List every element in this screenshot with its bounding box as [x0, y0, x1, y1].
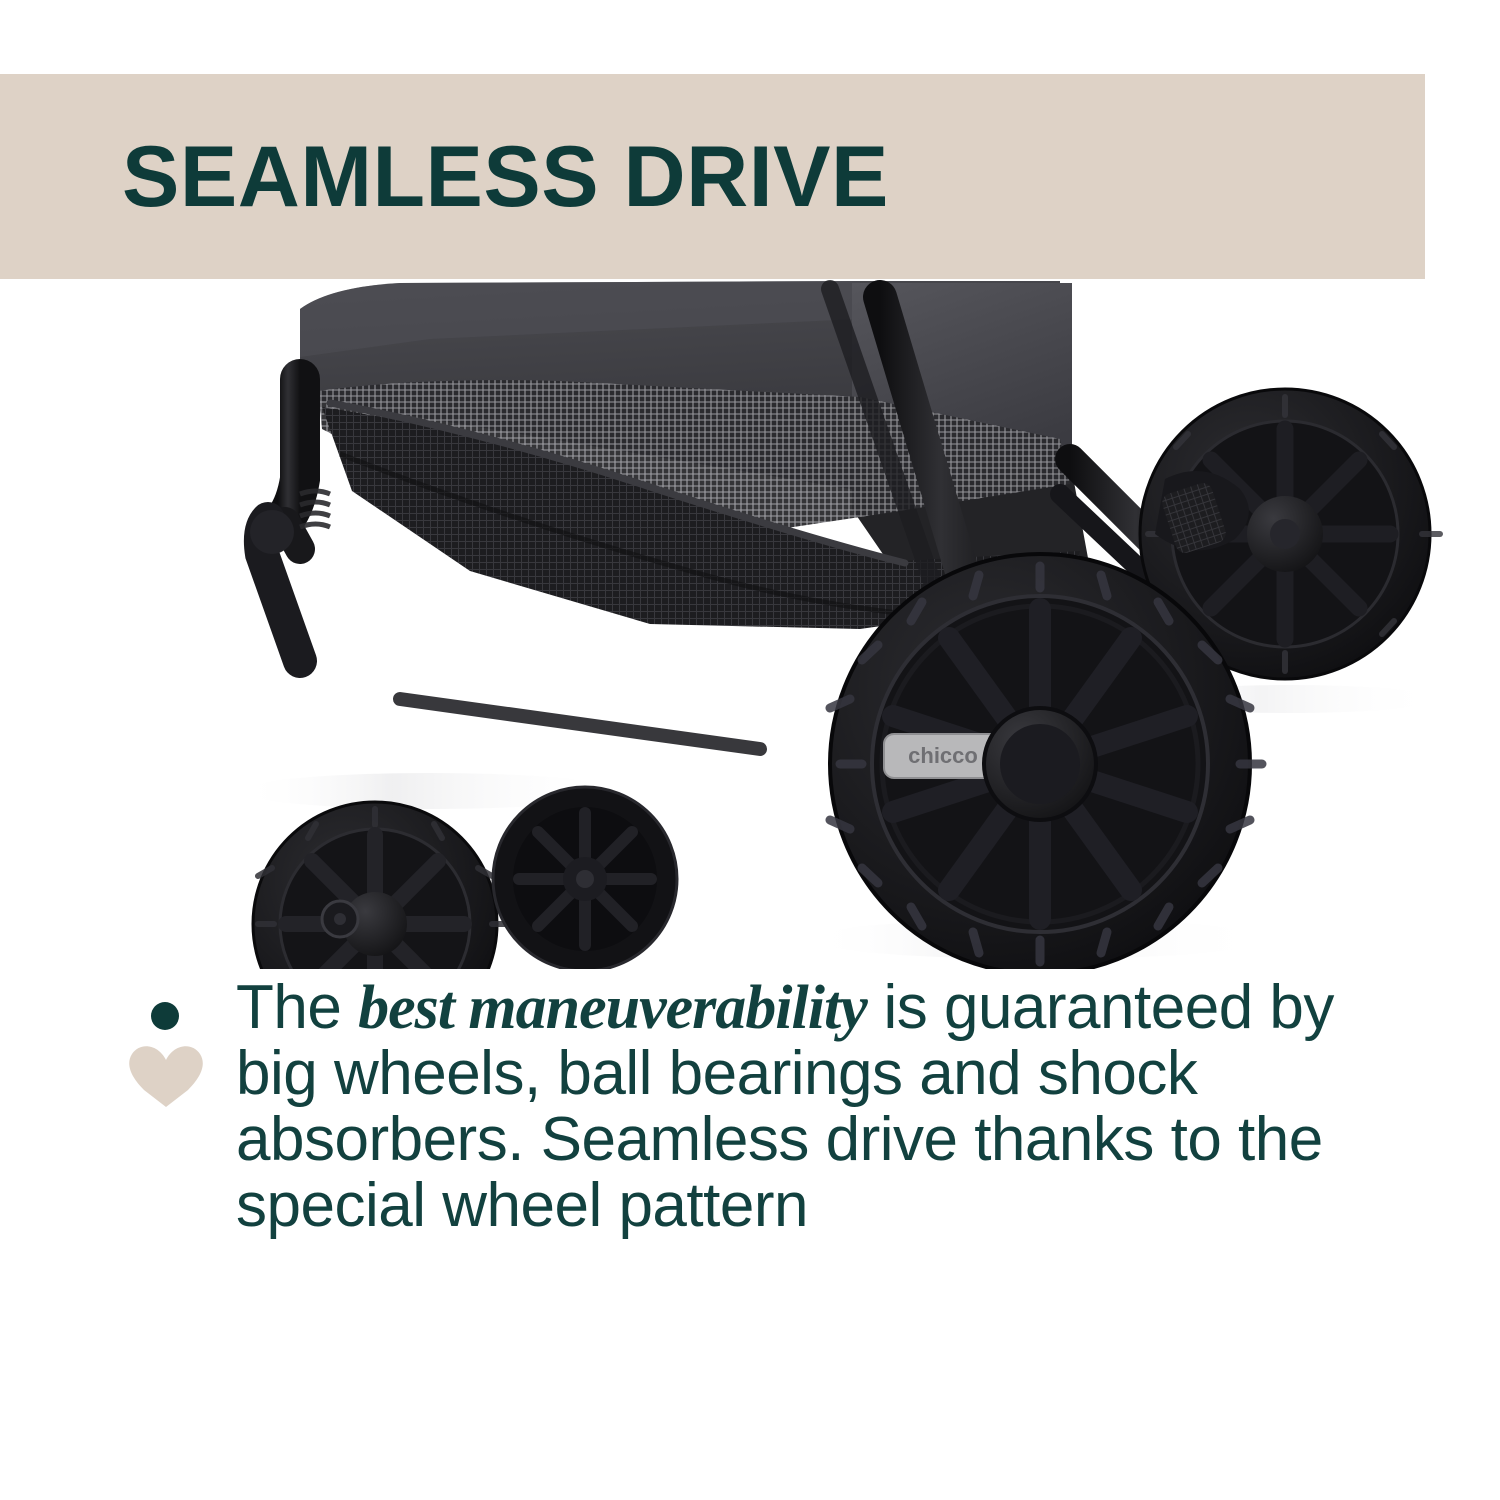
header-banner: SEAMLESS DRIVE: [0, 74, 1425, 279]
mid-rear-wheel: [493, 787, 677, 969]
chicco-heart-logo-icon: [128, 1000, 206, 1120]
logo-heart-icon: [128, 1040, 204, 1108]
description-lead: The: [236, 973, 358, 1042]
description-block: The best maneuverability is guaranteed b…: [0, 975, 1500, 1375]
description-emphasis: best maneuverability: [358, 974, 867, 1042]
logo-head-dot-icon: [151, 1002, 179, 1030]
stroller-illustration: chicco: [0, 279, 1500, 969]
product-photo: chicco: [0, 279, 1500, 969]
chicco-badge-text: chicco: [908, 743, 978, 768]
description-text: The best maneuverability is guaranteed b…: [236, 975, 1416, 1239]
page-title: SEAMLESS DRIVE: [122, 134, 889, 220]
